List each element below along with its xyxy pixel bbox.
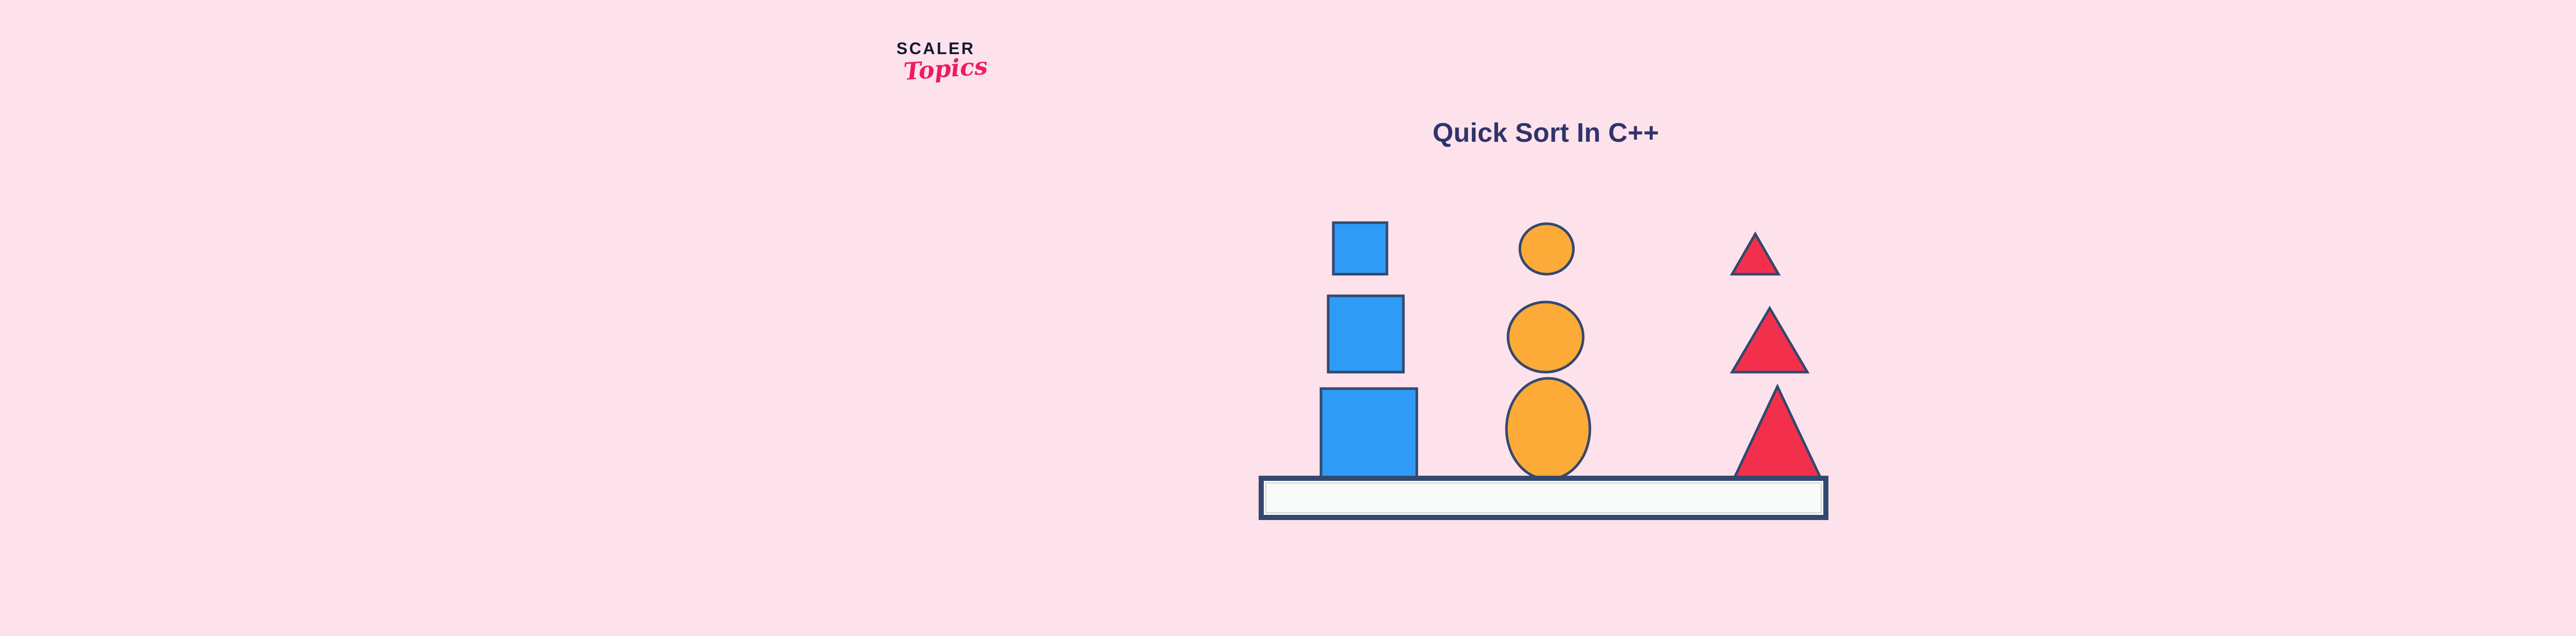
platform-layer bbox=[1261, 478, 1826, 517]
rect-medium bbox=[1328, 296, 1403, 372]
triangle-small bbox=[1732, 234, 1778, 274]
logo-script-topics: Topics bbox=[903, 52, 1026, 83]
triangle-medium bbox=[1732, 308, 1807, 372]
triangle-large bbox=[1734, 387, 1821, 479]
page-title-text: Quick Sort In C++ bbox=[1433, 118, 1659, 148]
shapes-illustration bbox=[1252, 206, 1839, 526]
page-title: Quick Sort In C++ bbox=[0, 118, 2576, 148]
ellipse-medium bbox=[1508, 302, 1583, 372]
rect-small bbox=[1333, 223, 1387, 274]
scaler-topics-logo[interactable]: SCALER Topics bbox=[896, 40, 1025, 102]
platform-bar-inner bbox=[1266, 483, 1821, 513]
shapes-layer bbox=[1321, 223, 1821, 479]
ellipse-large bbox=[1506, 378, 1590, 479]
shapes-illustration-svg bbox=[1252, 206, 1839, 526]
ellipse-small bbox=[1520, 224, 1573, 274]
rect-large bbox=[1321, 389, 1417, 479]
page-canvas: SCALER Topics Quick Sort In C++ bbox=[0, 0, 2576, 636]
